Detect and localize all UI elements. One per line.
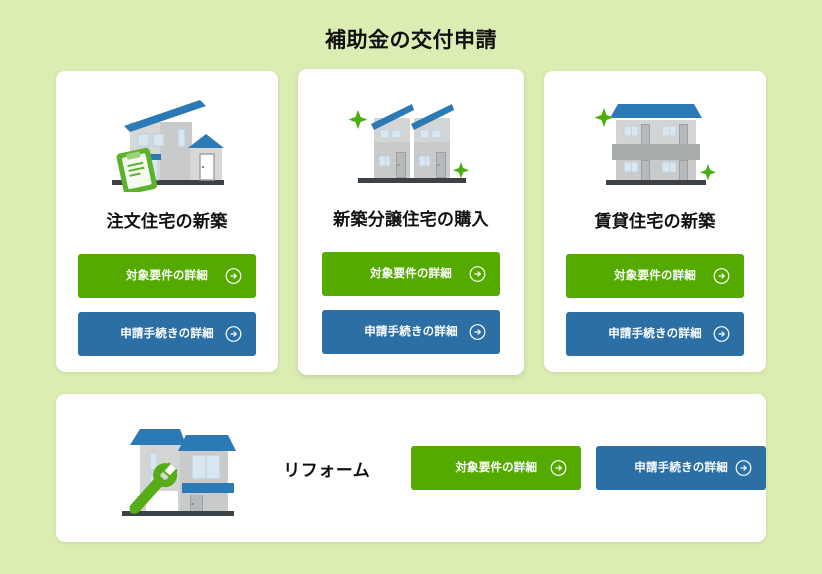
card-title: 新築分譲住宅の購入	[298, 205, 524, 230]
card-title: 賃貸住宅の新築	[544, 207, 766, 232]
circle-arrow-right-icon	[469, 266, 486, 283]
page-title: 補助金の交付申請	[0, 24, 822, 54]
procedure-detail-button[interactable]: 申請手続きの詳細	[566, 312, 744, 356]
circle-arrow-right-icon	[735, 460, 752, 477]
circle-arrow-right-icon	[225, 268, 242, 285]
card-rental-housing[interactable]: 賃貸住宅の新築 対象要件の詳細 申請手続きの詳細	[544, 71, 766, 372]
reform-title: リフォーム	[283, 456, 411, 481]
procedure-detail-button[interactable]: 申請手続きの詳細	[78, 312, 256, 356]
card-new-built-for-sale[interactable]: 新築分譲住宅の購入 対象要件の詳細 申請手続きの詳細	[298, 69, 524, 375]
circle-arrow-right-icon	[713, 268, 730, 285]
page-root: 補助金の交付申請	[0, 0, 822, 574]
circle-arrow-right-icon	[225, 326, 242, 343]
house-with-document-icon	[56, 87, 278, 197]
requirements-detail-button[interactable]: 対象要件の詳細	[411, 446, 581, 490]
card-reform[interactable]: リフォーム 対象要件の詳細 申請手続きの詳細	[56, 394, 766, 542]
circle-arrow-right-icon	[550, 460, 567, 477]
circle-arrow-right-icon	[469, 324, 486, 341]
circle-arrow-right-icon	[713, 326, 730, 343]
card-title: 注文住宅の新築	[56, 207, 278, 232]
apartment-building-sparkle-icon	[544, 87, 766, 197]
procedure-detail-button[interactable]: 申請手続きの詳細	[596, 446, 766, 490]
requirements-detail-button[interactable]: 対象要件の詳細	[566, 254, 744, 298]
house-with-wrench-icon	[100, 411, 255, 526]
procedure-detail-button[interactable]: 申請手続きの詳細	[322, 310, 500, 354]
requirements-detail-button[interactable]: 対象要件の詳細	[78, 254, 256, 298]
twin-houses-sparkle-icon	[298, 85, 524, 195]
requirements-detail-button[interactable]: 対象要件の詳細	[322, 252, 500, 296]
card-row: 注文住宅の新築 対象要件の詳細 申請手続きの詳細	[56, 71, 766, 376]
card-custom-house[interactable]: 注文住宅の新築 対象要件の詳細 申請手続きの詳細	[56, 71, 278, 372]
